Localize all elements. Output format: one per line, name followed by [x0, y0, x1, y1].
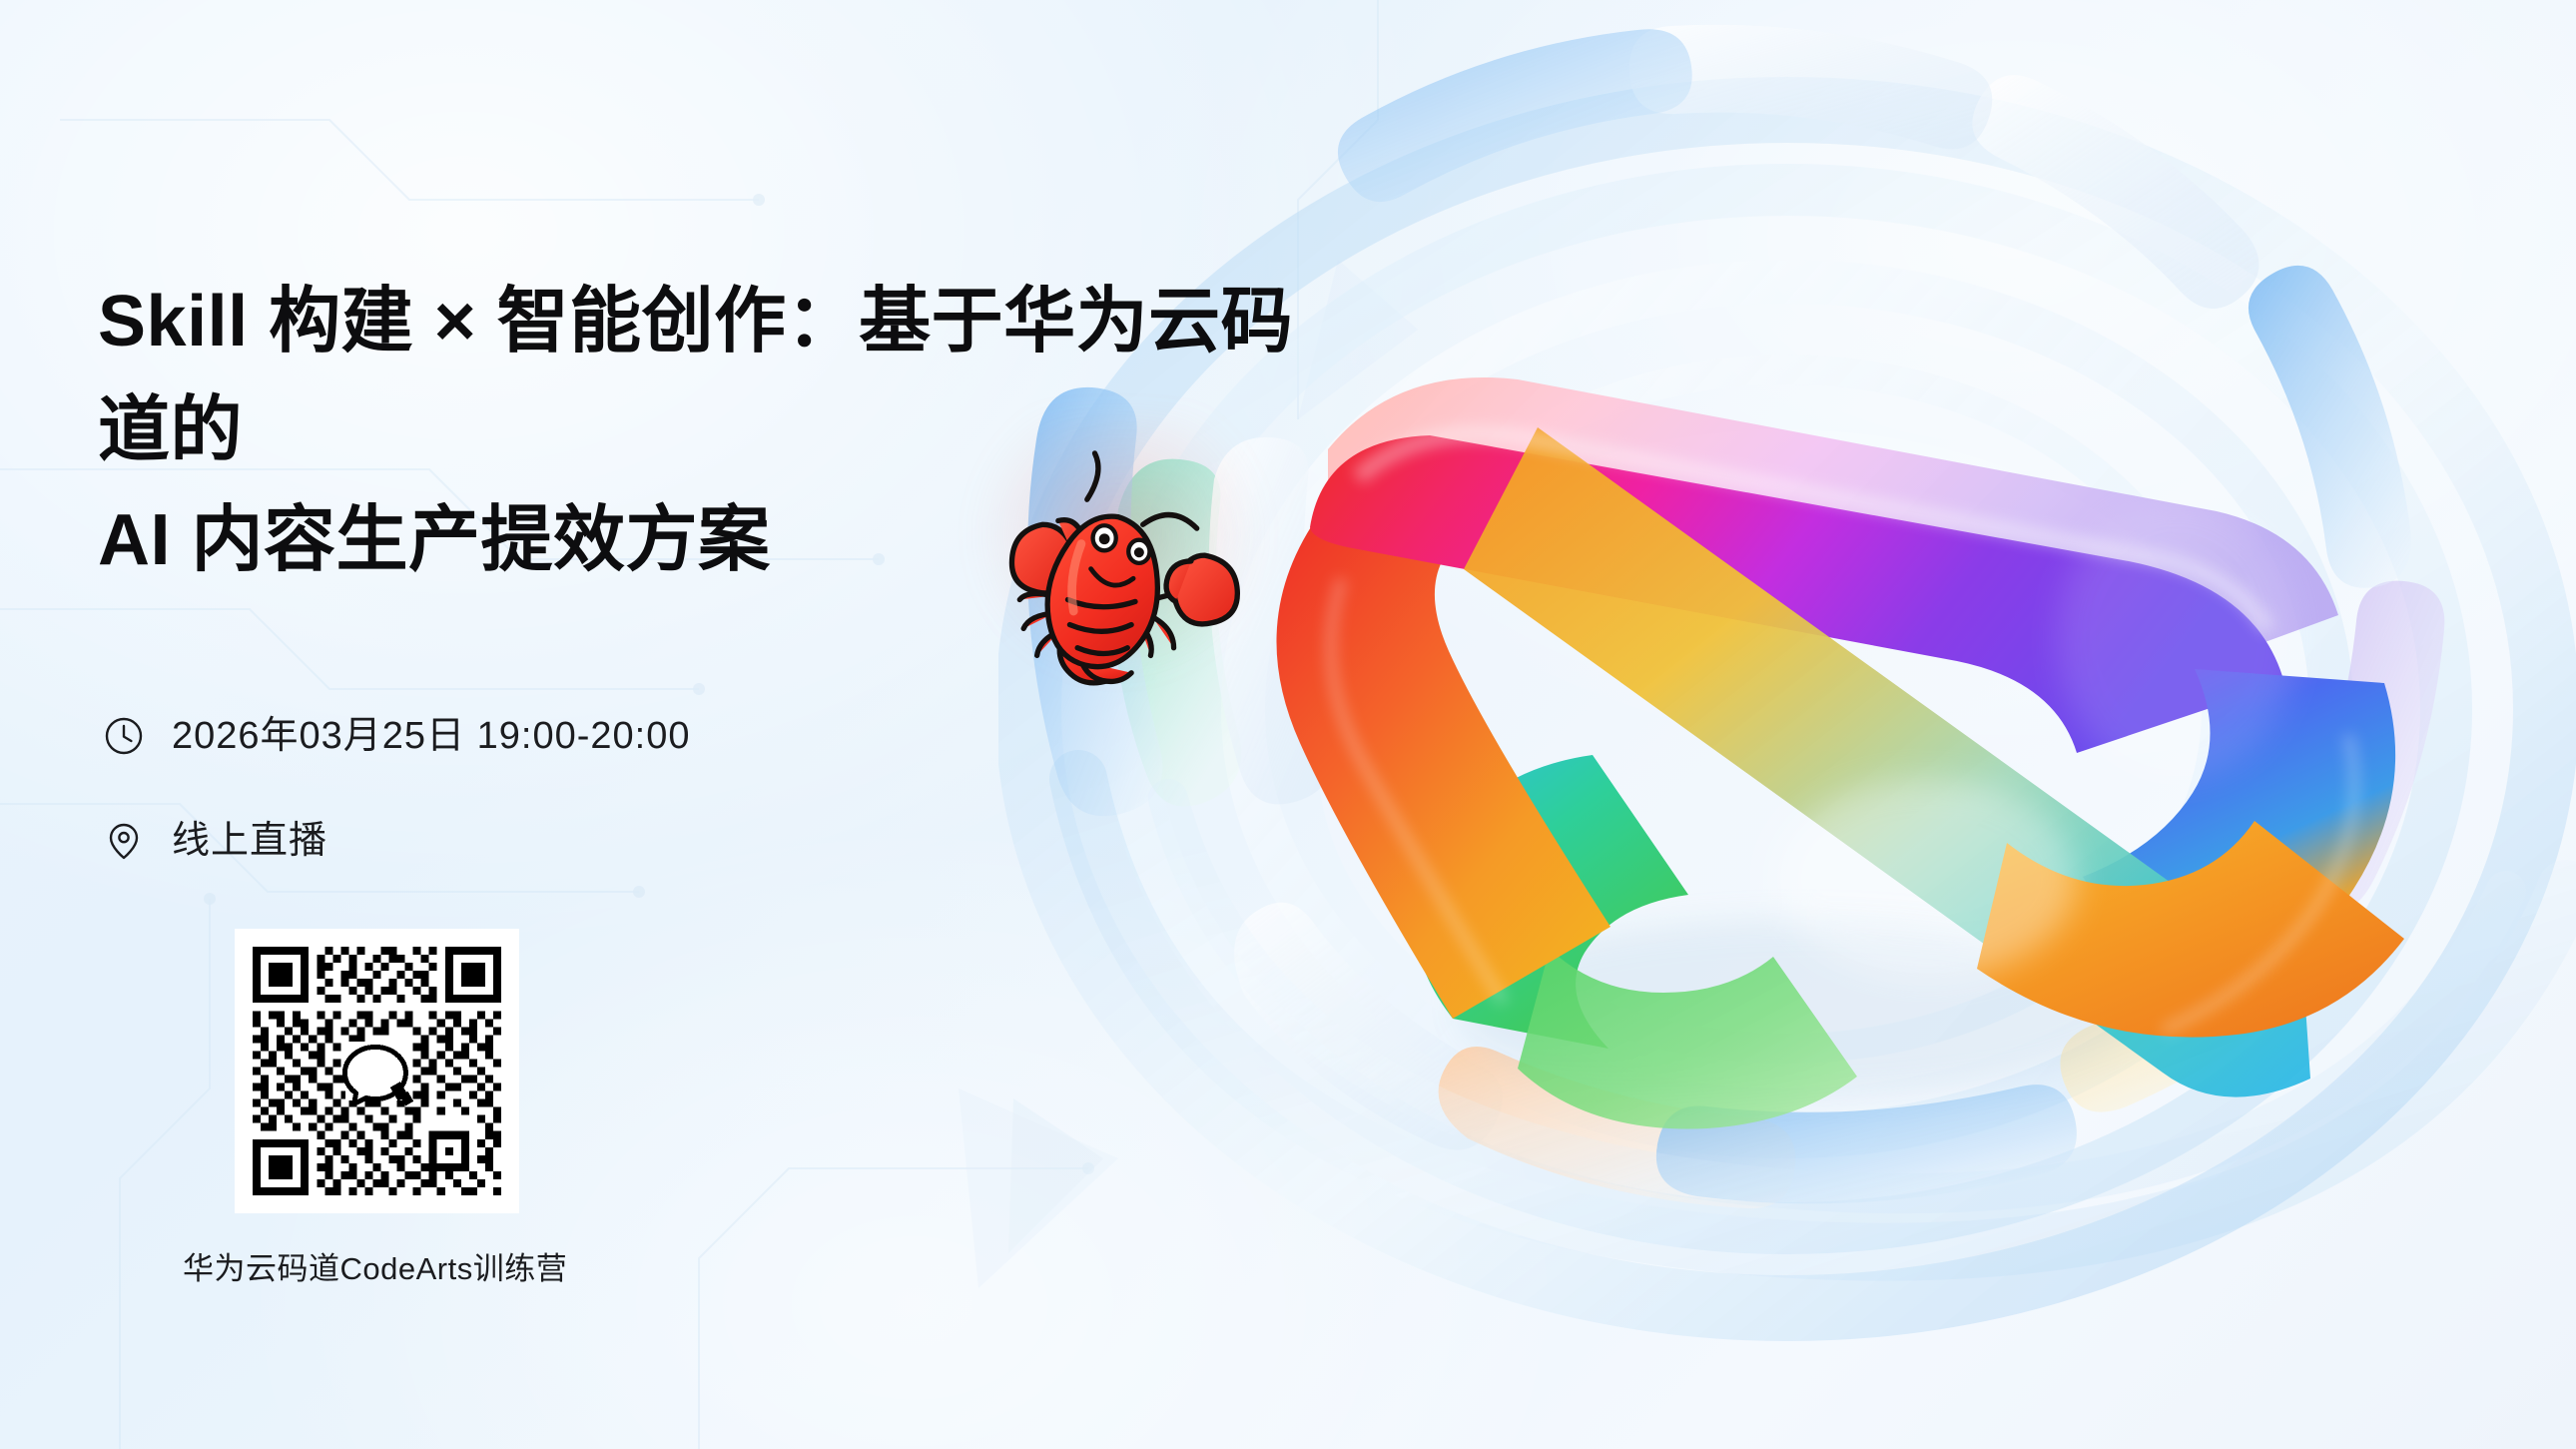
qr-caption: 华为云码道CodeArts训练营	[183, 1243, 539, 1288]
lobster-sticker	[973, 419, 1243, 699]
speech-bubble-megaphone-icon	[344, 1042, 413, 1106]
qr-block: 华为云码道CodeArts训练营	[235, 929, 539, 1288]
event-location-row: 线上直播	[102, 819, 327, 863]
qr-code-canvas	[245, 939, 509, 1203]
clock-icon	[102, 714, 146, 758]
banner-content: Skill 构建 × 智能创作：基于华为云码道的 AI 内容生产提效方案 202…	[98, 0, 1396, 1449]
webinar-banner: Skill 构建 × 智能创作：基于华为云码道的 AI 内容生产提效方案 202…	[0, 0, 2576, 1449]
event-location-text: 线上直播	[172, 822, 327, 860]
qr-code[interactable]	[235, 929, 519, 1213]
event-date-row: 2026年03月25日 19:00-20:00	[102, 714, 690, 758]
event-date-text: 2026年03月25日 19:00-20:00	[172, 717, 690, 755]
map-pin-icon	[102, 819, 146, 863]
